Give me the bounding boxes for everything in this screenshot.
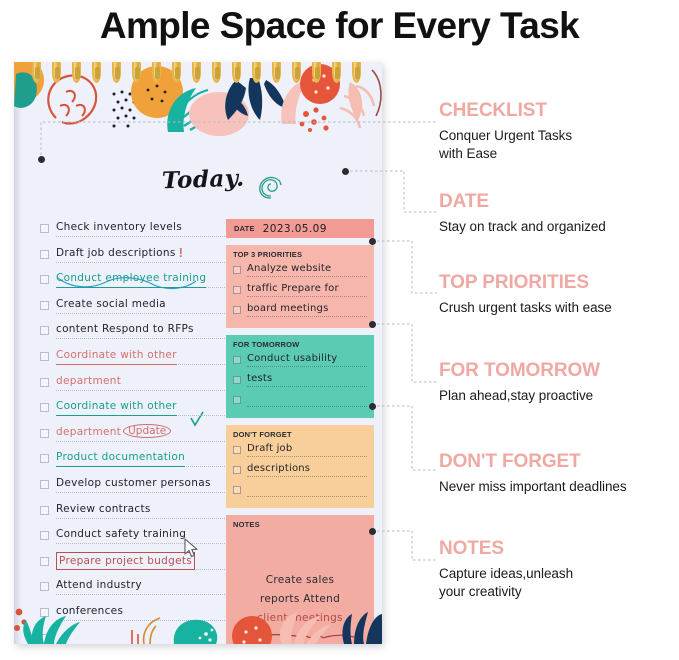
- paper-edge-shadow: [14, 62, 22, 644]
- annotation-desc: Capture ideas,unleashyour creativity: [439, 565, 573, 600]
- checklist-rule: [56, 492, 225, 493]
- for-tomorrow-row[interactable]: Conduct usability: [233, 352, 367, 372]
- dont-forget-row[interactable]: [233, 482, 367, 502]
- for-tomorrow-label: Conduct usability: [247, 352, 337, 366]
- annotation-title: CHECKLIST: [439, 99, 572, 123]
- checklist-checkbox[interactable]: [40, 352, 49, 361]
- checklist-row[interactable]: Check inventory levels: [40, 219, 222, 245]
- checklist: Check inventory levelsDraft job descript…: [40, 219, 222, 644]
- annotation-title: DATE: [439, 190, 606, 214]
- top-priority-rule: [247, 296, 367, 297]
- checklist-checkbox[interactable]: [40, 480, 49, 489]
- top-priority-checkbox[interactable]: [233, 266, 241, 274]
- checklist-item-label: department: [56, 424, 121, 440]
- checklist-item-label: Draft job descriptions: [56, 245, 176, 261]
- top-priority-row[interactable]: board meetings: [233, 302, 367, 322]
- checklist-rule: [56, 313, 225, 314]
- checklist-checkbox[interactable]: [40, 531, 49, 540]
- annotation-title: FOR TOMORROW: [439, 359, 600, 383]
- top-priority-row[interactable]: traffic Prepare for: [233, 282, 367, 302]
- checklist-rule: [56, 441, 225, 442]
- top-priority-rule: [247, 316, 367, 317]
- dont-forget-checkbox[interactable]: [233, 466, 241, 474]
- for-tomorrow-rule: [247, 406, 367, 407]
- today-heading: Today.: [162, 165, 245, 195]
- checklist-checkbox[interactable]: [40, 250, 49, 259]
- dont-forget-row[interactable]: Draft job: [233, 442, 367, 462]
- checklist-row[interactable]: Conduct employee training: [40, 270, 222, 296]
- panel-date: DATE 2023.05.09: [226, 219, 374, 238]
- checklist-checkbox[interactable]: [40, 557, 49, 566]
- connector-dot-notes: [369, 528, 376, 535]
- top-priority-rule: [247, 276, 367, 277]
- dont-forget-checkbox[interactable]: [233, 446, 241, 454]
- dont-forget-label: descriptions: [247, 462, 310, 476]
- checklist-checkbox[interactable]: [40, 454, 49, 463]
- checklist-item-label: conferences: [56, 603, 123, 619]
- checklist-checkbox[interactable]: [40, 582, 49, 591]
- for-tomorrow-checkbox[interactable]: [233, 396, 241, 404]
- panel-stack: DATE 2023.05.09 TOP 3 PRIORITIES Analyze…: [226, 219, 374, 644]
- for-tomorrow-row[interactable]: tests: [233, 372, 367, 392]
- annotation-desc: Conquer Urgent Taskswith Ease: [439, 127, 572, 162]
- top-priority-label: board meetings: [247, 302, 329, 316]
- checklist-row[interactable]: Create social media: [40, 296, 222, 322]
- checklist-item-label: department: [56, 373, 121, 389]
- top-priorities-label: TOP 3 PRIORITIES: [233, 250, 367, 259]
- panel-top-priorities: TOP 3 PRIORITIES Analyze websitetraffic …: [226, 245, 374, 328]
- annotation-title: NOTES: [439, 537, 573, 561]
- checklist-item-label: content Respond to RFPs: [56, 321, 194, 337]
- spiral-doodle: [256, 170, 286, 200]
- checklist-item-label: Coordinate with other: [56, 347, 177, 365]
- checklist-item-label: Coordinate with other: [56, 398, 177, 416]
- checklist-item-label: Conduct safety training: [56, 526, 186, 542]
- checklist-checkbox[interactable]: [40, 326, 49, 335]
- checklist-checkbox[interactable]: [40, 429, 49, 438]
- checklist-row[interactable]: Develop customer personas: [40, 475, 222, 501]
- annotation-for-tomorrow: FOR TOMORROW Plan ahead,stay proactive: [439, 359, 600, 405]
- checklist-row[interactable]: Draft job descriptions!: [40, 245, 222, 271]
- annotation-desc: Crush urgent tasks with ease: [439, 299, 612, 317]
- for-tomorrow-checkbox[interactable]: [233, 356, 241, 364]
- checklist-row[interactable]: Product documentation: [40, 449, 222, 475]
- dont-forget-row[interactable]: descriptions: [233, 462, 367, 482]
- checklist-item-label: Attend industry: [56, 577, 142, 593]
- for-tomorrow-rule: [247, 366, 367, 367]
- checklist-item-label: Check inventory levels: [56, 219, 182, 235]
- checklist-rule: [56, 390, 225, 391]
- checklist-row[interactable]: content Respond to RFPs: [40, 321, 222, 347]
- checklist-item-label: Product documentation: [56, 449, 185, 467]
- checklist-checkbox[interactable]: [40, 301, 49, 310]
- connector-dot-dont-forget: [369, 403, 376, 410]
- panel-dont-forget: DON'T FORGET Draft jobdescriptions: [226, 425, 374, 508]
- dont-forget-label: Draft job: [247, 442, 292, 456]
- checklist-item-label: Review contracts: [56, 501, 151, 517]
- spiral-binding: [32, 62, 372, 85]
- checklist-item-label: Conduct employee training: [56, 270, 206, 288]
- checklist-row[interactable]: Coordinate with other: [40, 398, 222, 424]
- exclamation-doodle: !: [179, 245, 183, 260]
- dont-forget-rule: [247, 456, 367, 457]
- checklist-rule: [56, 338, 225, 339]
- checklist-item-label: Develop customer personas: [56, 475, 211, 491]
- for-tomorrow-rule: [247, 386, 367, 387]
- checklist-checkbox[interactable]: [40, 403, 49, 412]
- connector-dot-date: [342, 168, 349, 175]
- annotation-date: DATE Stay on track and organized: [439, 190, 606, 236]
- checklist-rule: [56, 236, 225, 237]
- connector-dot-checklist: [38, 156, 45, 163]
- dont-forget-checkbox[interactable]: [233, 486, 241, 494]
- notes-line-1: Create sales: [233, 571, 367, 590]
- checklist-row[interactable]: departmentUpdate: [40, 424, 222, 450]
- date-label: DATE: [234, 224, 255, 233]
- top-priority-label: Analyze website: [247, 262, 331, 276]
- annotation-top-priorities: TOP PRIORITIES Crush urgent tasks with e…: [439, 271, 612, 317]
- annotation-title: TOP PRIORITIES: [439, 271, 612, 295]
- for-tomorrow-label: FOR TOMORROW: [233, 340, 367, 349]
- date-value[interactable]: 2023.05.09: [263, 223, 327, 235]
- annotation-desc: Plan ahead,stay proactive: [439, 387, 600, 405]
- notepad: Today. Check inventory levelsDraft job d…: [14, 62, 382, 644]
- annotation-desc: Stay on track and organized: [439, 218, 606, 236]
- checklist-row[interactable]: department: [40, 373, 222, 399]
- annotation-checklist: CHECKLIST Conquer Urgent Taskswith Ease: [439, 99, 572, 162]
- top-priority-checkbox[interactable]: [233, 306, 241, 314]
- for-tomorrow-checkbox[interactable]: [233, 376, 241, 384]
- top-priority-row[interactable]: Analyze website: [233, 262, 367, 282]
- top-priority-label: traffic Prepare for: [247, 282, 339, 296]
- mouse-cursor-icon: [184, 538, 200, 558]
- checklist-rule: [56, 262, 225, 263]
- dont-forget-rule: [247, 496, 367, 497]
- checklist-checkbox[interactable]: [40, 275, 49, 284]
- annotation-desc: Never miss important deadlines: [439, 478, 627, 496]
- checklist-checkbox[interactable]: [40, 378, 49, 387]
- annotation-title: DON'T FORGET: [439, 450, 627, 474]
- top-priority-checkbox[interactable]: [233, 286, 241, 294]
- annotation-dont-forget: DON'T FORGET Never miss important deadli…: [439, 450, 627, 496]
- checklist-item-label: Create social media: [56, 296, 166, 312]
- circled-annotation: Update: [123, 424, 171, 438]
- dont-forget-label: DON'T FORGET: [233, 430, 367, 439]
- dont-forget-rule: [247, 476, 367, 477]
- for-tomorrow-row[interactable]: [233, 392, 367, 412]
- page-title: Ample Space for Every Task: [0, 0, 679, 50]
- panel-for-tomorrow: FOR TOMORROW Conduct usabilitytests: [226, 335, 374, 418]
- notes-label: NOTES: [233, 520, 367, 529]
- connector-dot-for-tomorrow: [369, 321, 376, 328]
- checklist-row[interactable]: Review contracts: [40, 501, 222, 527]
- checklist-rule: [56, 518, 225, 519]
- annotation-notes: NOTES Capture ideas,unleashyour creativi…: [439, 537, 573, 600]
- poster-canvas: Ample Space for Every Task: [0, 0, 679, 660]
- checklist-row[interactable]: Coordinate with other: [40, 347, 222, 373]
- checklist-item-label: Prepare project budgets: [56, 552, 195, 570]
- checklist-checkbox[interactable]: [40, 506, 49, 515]
- for-tomorrow-label: tests: [247, 372, 272, 386]
- checklist-checkbox[interactable]: [40, 224, 49, 233]
- connector-dot-top-priorities: [369, 238, 376, 245]
